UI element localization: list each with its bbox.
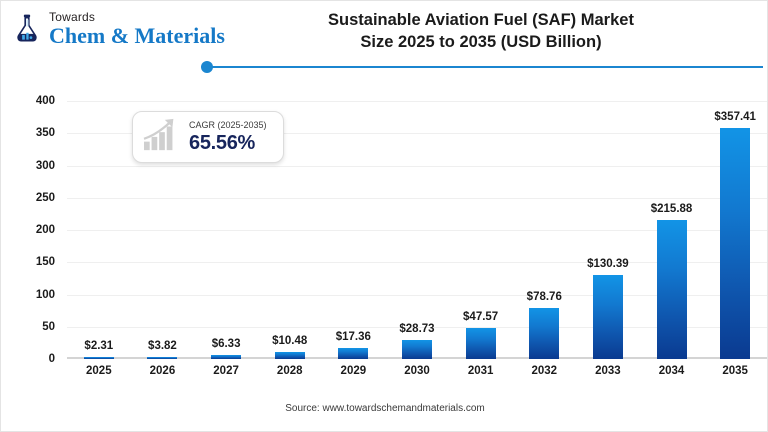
divider-line	[207, 66, 763, 68]
x-axis-tick-label: 2030	[385, 365, 449, 377]
bar-chart-growth-icon	[141, 117, 183, 158]
bar-group[interactable]: $130.39	[576, 101, 640, 359]
y-axis-tick-label: 350	[36, 127, 55, 139]
bar[interactable]	[402, 340, 432, 359]
bar-group[interactable]: $47.57	[449, 101, 513, 359]
x-axis-tick-label: 2033	[576, 365, 640, 377]
bar[interactable]	[338, 348, 368, 359]
chart-title: Sustainable Aviation Fuel (SAF) Market S…	[201, 9, 761, 54]
bar[interactable]	[529, 308, 559, 359]
y-axis-tick-label: 50	[42, 321, 55, 333]
bar-group[interactable]: $2.31	[67, 101, 131, 359]
flask-icon	[9, 11, 45, 47]
bar[interactable]	[275, 352, 305, 359]
bar[interactable]	[84, 357, 114, 359]
x-axis-tick-label: 2025	[67, 365, 131, 377]
bar-value-label: $357.41	[714, 111, 756, 123]
bar[interactable]	[466, 328, 496, 359]
cagr-badge: CAGR (2025-2035) 65.56%	[132, 111, 284, 163]
bar-value-label: $17.36	[336, 331, 371, 343]
title-divider	[201, 61, 763, 73]
bar-value-label: $130.39	[587, 258, 629, 270]
bar[interactable]	[211, 355, 241, 359]
x-axis-tick-label: 2035	[703, 365, 767, 377]
x-axis-tick-label: 2034	[640, 365, 704, 377]
chart-title-line-1: Sustainable Aviation Fuel (SAF) Market	[201, 9, 761, 31]
bar-value-label: $2.31	[84, 340, 113, 352]
brand-logo: Towards Chem & Materials	[9, 11, 225, 47]
y-axis-tick-label: 300	[36, 160, 55, 172]
x-axis-tick-label: 2029	[322, 365, 386, 377]
brand-top-label: Towards	[49, 11, 225, 23]
source-note: Source: www.towardschemandmaterials.com	[1, 403, 768, 414]
cagr-texts: CAGR (2025-2035) 65.56%	[189, 121, 267, 153]
bar-group[interactable]: $28.73	[385, 101, 449, 359]
y-axis-tick-label: 150	[36, 256, 55, 268]
bar-group[interactable]: $78.76	[512, 101, 576, 359]
chart-title-line-2: Size 2025 to 2035 (USD Billion)	[201, 31, 761, 53]
x-axis-tick-label: 2031	[449, 365, 513, 377]
bar-group[interactable]: $357.41	[703, 101, 767, 359]
cagr-value: 65.56%	[189, 133, 267, 153]
bar-value-label: $47.57	[463, 311, 498, 323]
bar-value-label: $10.48	[272, 335, 307, 347]
brand-main-label: Chem & Materials	[49, 25, 225, 47]
y-axis-tick-label: 100	[36, 289, 55, 301]
bar-group[interactable]: $17.36	[322, 101, 386, 359]
y-axis-tick-label: 250	[36, 192, 55, 204]
x-axis-tick-label: 2027	[194, 365, 258, 377]
x-axis-tick-label: 2032	[512, 365, 576, 377]
x-axis-labels: 2025202620272028202920302031203220332034…	[67, 365, 767, 385]
y-axis-tick-label: 0	[49, 353, 55, 365]
bar[interactable]	[147, 357, 177, 359]
brand-text: Towards Chem & Materials	[49, 11, 225, 47]
bar-value-label: $28.73	[399, 323, 434, 335]
bar[interactable]	[593, 275, 623, 359]
bar-value-label: $78.76	[527, 291, 562, 303]
bar-value-label: $6.33	[212, 338, 241, 350]
bar[interactable]	[720, 128, 750, 359]
y-axis-tick-label: 200	[36, 224, 55, 236]
cagr-caption: CAGR (2025-2035)	[189, 121, 267, 130]
bar-value-label: $215.88	[651, 203, 693, 215]
y-axis-tick-label: 400	[36, 95, 55, 107]
bar[interactable]	[657, 220, 687, 359]
x-axis-tick-label: 2026	[131, 365, 195, 377]
y-axis: 050100150200250300350400	[1, 101, 61, 359]
bar-value-label: $3.82	[148, 340, 177, 352]
bar-group[interactable]: $215.88	[640, 101, 704, 359]
x-axis-tick-label: 2028	[258, 365, 322, 377]
chart-page: Towards Chem & Materials Sustainable Avi…	[0, 0, 768, 432]
